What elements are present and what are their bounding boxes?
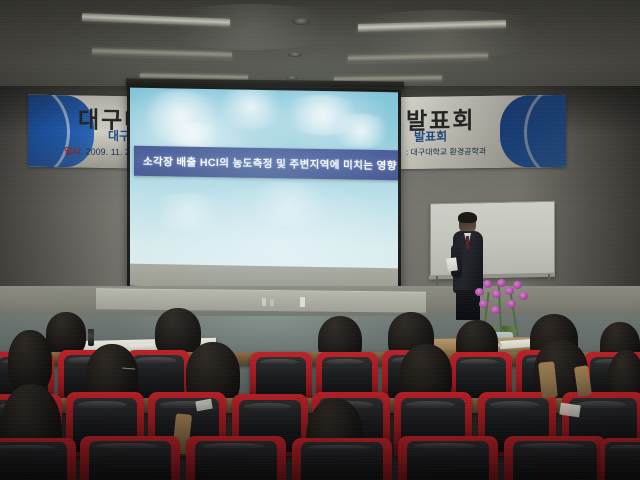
slide-title-text: 소각장 배출 HCl의 농도측정 및 주변지역에 미치는 영향 [134, 153, 397, 173]
floor-object [300, 297, 305, 307]
slide-cloud [326, 113, 396, 148]
seat-highlight [96, 443, 158, 449]
seat-highlight [520, 443, 583, 449]
auditorium-seat [504, 436, 606, 480]
presenter-papers [446, 257, 458, 271]
banner-organization: : 대구대학교 환경공학과 [406, 146, 486, 158]
auditorium-seat [0, 438, 76, 480]
slide-title-band: 소각장 배출 HCl의 농도측정 및 주변지역에 미치는 영향 [134, 146, 398, 181]
slide-cloud [148, 192, 228, 231]
ceiling-vent [288, 52, 302, 57]
orchid-bloom [507, 300, 516, 308]
presenter-hair [458, 212, 477, 223]
floor-object [262, 298, 266, 306]
orchid-bloom [491, 306, 500, 314]
orchid-bloom [483, 280, 492, 288]
attendee-papers [559, 403, 580, 418]
orchid-bloom [519, 292, 528, 300]
projection-screen: 소각장 배출 HCl의 농도측정 및 주변지역에 미치는 영향 [127, 85, 401, 294]
slide-cloud [240, 182, 336, 228]
banner-date-label: 일시 [64, 146, 81, 156]
ceiling-vent [292, 18, 310, 25]
auditorium-seat [398, 436, 498, 480]
orchid-bloom [475, 288, 484, 296]
banner-subtitle-right: 발표회 [414, 127, 447, 144]
swoosh-arc [524, 95, 566, 169]
ceiling-glow-left [150, 4, 350, 50]
orchid-bloom [479, 300, 488, 308]
auditorium-seat [186, 436, 286, 480]
orchid-bloom [497, 279, 506, 287]
seat-highlight [260, 359, 298, 365]
eyeglasses [122, 368, 135, 373]
seat-highlight [136, 357, 176, 363]
seat-highlight [202, 443, 264, 449]
seat-highlight [414, 443, 476, 449]
seat-highlight [575, 401, 626, 409]
seat-highlight [78, 401, 126, 409]
seat-highlight [244, 403, 291, 410]
beverage-bottle [88, 329, 94, 346]
presenter-necktie [466, 236, 469, 249]
orchid-bloom [492, 290, 501, 298]
auditorium-seat [80, 436, 180, 480]
auditorium-seat [292, 438, 392, 480]
wall-baseboard-radiator [96, 288, 426, 312]
swoosh-arc [28, 95, 70, 170]
slide-cloud [214, 88, 288, 131]
floor-object [270, 299, 274, 306]
banner-right: 발표회 발표회 : 대구대학교 환경공학과 [398, 95, 566, 169]
attendee [8, 330, 52, 392]
banner-swoosh-graphic [500, 95, 566, 168]
seat-highlight [490, 401, 538, 409]
slide-surface: 소각장 배출 HCl의 농도측정 및 주변지역에 미치는 영향 [130, 88, 398, 291]
seat-highlight [326, 359, 364, 365]
seat-highlight [406, 401, 454, 409]
orchid-bloom [513, 281, 522, 289]
auditorium-seat [600, 438, 640, 480]
presentation-room-photo: 대구대 대구 일시: 2009. 11. 20(금) 발표회 발표회 : 대구대… [0, 0, 640, 480]
orchid-bloom [505, 287, 514, 295]
seat-highlight [460, 359, 498, 365]
ceiling-glow-right [330, 10, 560, 58]
